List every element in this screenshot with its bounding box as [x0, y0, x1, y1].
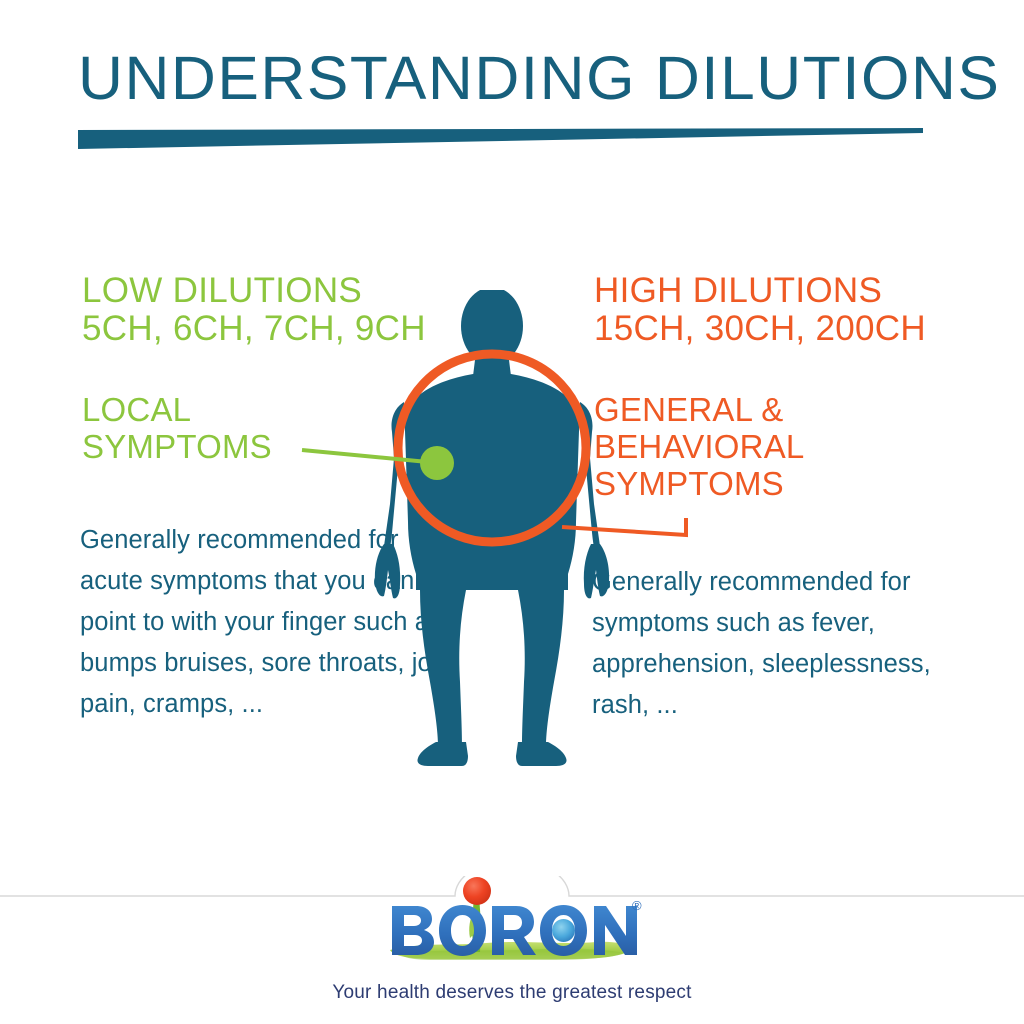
general-symptom-leader-line [562, 518, 686, 535]
registered-trademark-symbol: ® [632, 898, 642, 913]
page-title: UNDERSTANDING DILUTIONS [78, 48, 976, 109]
logo-o-dot-icon [552, 919, 575, 942]
local-symptoms-subheading: LOCAL SYMPTOMS [82, 392, 272, 466]
title-divider-wedge [78, 128, 923, 152]
boiron-logo: ® [382, 876, 642, 976]
local-symptoms-line2: SYMPTOMS [82, 429, 272, 466]
brand-tagline: Your health deserves the greatest respec… [0, 982, 1024, 1004]
infographic-canvas: UNDERSTANDING DILUTIONS LOW DILUTIONS 5C… [0, 0, 1024, 1024]
local-symptom-marker [420, 446, 454, 480]
local-symptoms-line1: LOCAL [82, 392, 272, 429]
dilution-body-diagram [280, 290, 760, 770]
flower-head-icon [463, 877, 491, 905]
